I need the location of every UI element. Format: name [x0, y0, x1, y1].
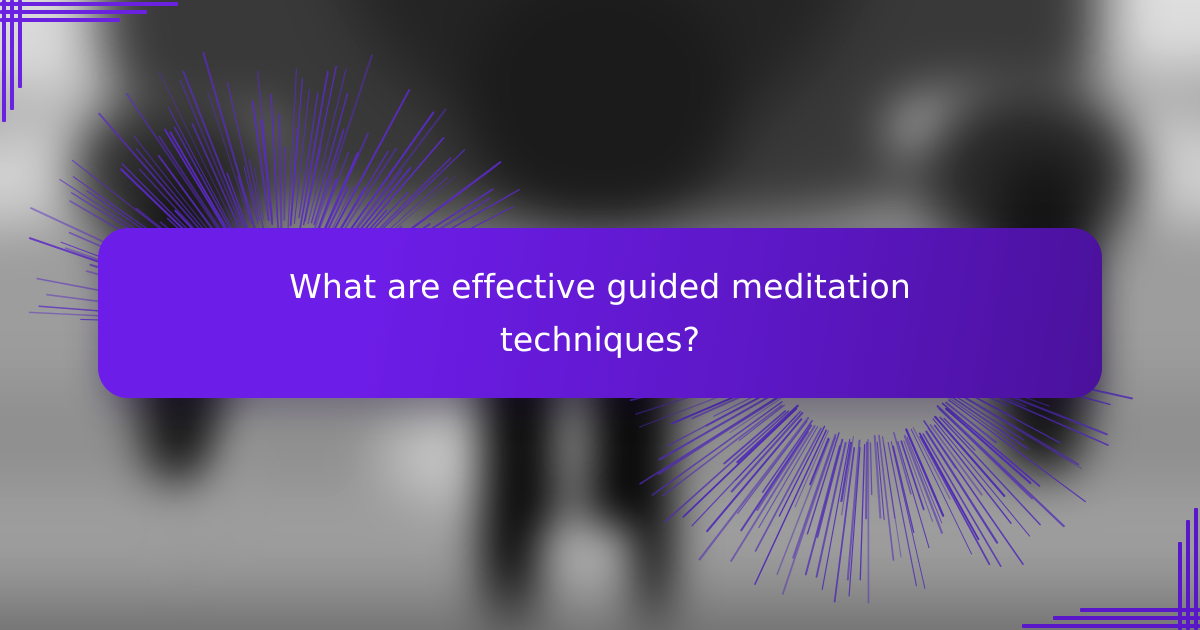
photo-nose — [468, 0, 732, 225]
photo-tarmac-shadow — [0, 600, 1200, 630]
question-card: What are effective guided meditation tec… — [98, 228, 1102, 398]
question-text: What are effective guided meditation tec… — [194, 260, 1006, 367]
question-card-banner: What are effective guided meditation tec… — [0, 0, 1200, 630]
